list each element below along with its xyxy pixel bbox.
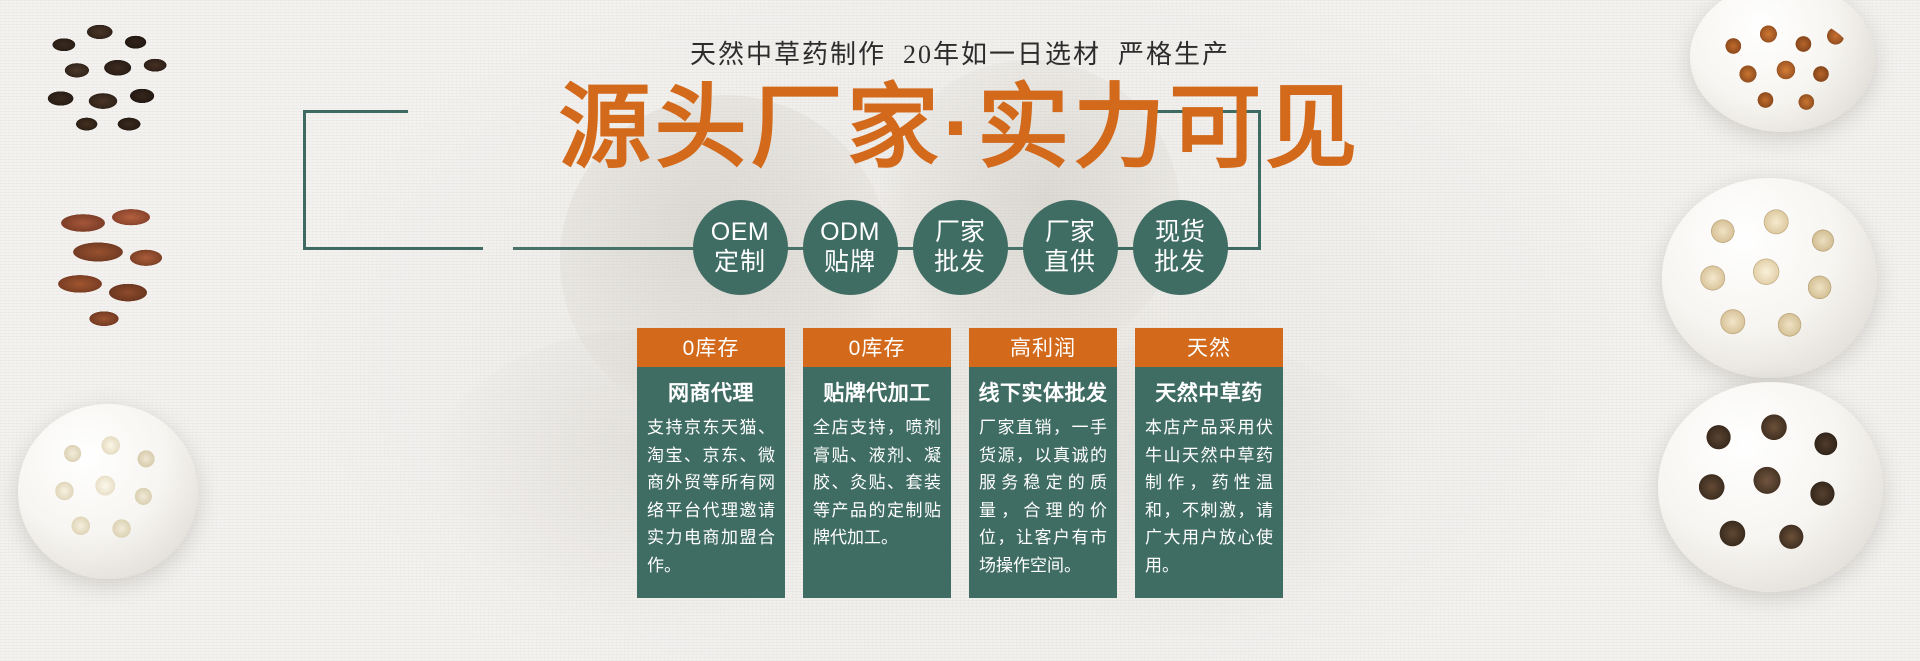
service-badge-stock-wholesale[interactable]: 现货 批发 <box>1133 200 1228 295</box>
service-badge-line2: 贴牌 <box>824 248 876 278</box>
service-badge-line2: 批发 <box>1154 248 1206 278</box>
service-badge-line1: ODM <box>820 218 880 248</box>
service-badge-line2: 直供 <box>1044 248 1096 278</box>
feature-card-header: 高利润 <box>969 328 1117 367</box>
feature-card-online-agent[interactable]: 0库存 网商代理 支持京东天猫、淘宝、京东、微商外贸等所有网络平台代理邀请实力电… <box>637 328 785 598</box>
feature-card-body: 全店支持，喷剂膏贴、液剂、凝胶、灸贴、套装等产品的定制贴牌代加工。 <box>803 414 951 598</box>
banner-tagline: 天然中草药制作 20年如一日选材 严格生产 <box>0 34 1920 71</box>
feature-card-body: 本店产品采用伏牛山天然中草药制作，药性温和，不刺激，请广大用户放心使用。 <box>1135 414 1283 598</box>
feature-card-natural-herbs[interactable]: 天然 天然中草药 本店产品采用伏牛山天然中草药制作，药性温和，不刺激，请广大用户… <box>1135 328 1283 598</box>
feature-card-subtitle: 线下实体批发 <box>969 367 1117 414</box>
service-badge-line1: 厂家 <box>935 218 985 248</box>
feature-card-body: 厂家直销，一手货源，以真诚的服务稳定的质量，合理的价位，让客户有市场操作空间。 <box>969 414 1117 598</box>
service-badge-line2: 批发 <box>934 248 986 278</box>
banner-headline: 源头厂家·实力可见 <box>0 82 1920 174</box>
feature-card-header: 天然 <box>1135 328 1283 367</box>
feature-card-subtitle: 贴牌代加工 <box>803 367 951 414</box>
service-badge-line1: 现货 <box>1155 218 1205 248</box>
feature-card-oem-processing[interactable]: 0库存 贴牌代加工 全店支持，喷剂膏贴、液剂、凝胶、灸贴、套装等产品的定制贴牌代… <box>803 328 951 598</box>
service-badge-oem[interactable]: OEM 定制 <box>693 200 788 295</box>
feature-card-subtitle: 天然中草药 <box>1135 367 1283 414</box>
service-badge-list: OEM 定制 ODM 贴牌 厂家 批发 厂家 直供 现货 批发 <box>0 200 1920 310</box>
service-badge-line1: 厂家 <box>1045 218 1095 248</box>
service-badge-line1: OEM <box>711 218 769 248</box>
service-badge-odm[interactable]: ODM 贴牌 <box>803 200 898 295</box>
service-badge-factory-direct[interactable]: 厂家 直供 <box>1023 200 1118 295</box>
promo-banner: 天然中草药制作 20年如一日选材 严格生产 源头厂家·实力可见 OEM 定制 O… <box>0 0 1920 661</box>
feature-card-offline-wholesale[interactable]: 高利润 线下实体批发 厂家直销，一手货源，以真诚的服务稳定的质量，合理的价位，让… <box>969 328 1117 598</box>
service-badge-factory-wholesale[interactable]: 厂家 批发 <box>913 200 1008 295</box>
feature-card-body: 支持京东天猫、淘宝、京东、微商外贸等所有网络平台代理邀请实力电商加盟合作。 <box>637 414 785 598</box>
feature-card-header: 0库存 <box>637 328 785 367</box>
feature-card-list: 0库存 网商代理 支持京东天猫、淘宝、京东、微商外贸等所有网络平台代理邀请实力电… <box>0 328 1920 598</box>
feature-card-header: 0库存 <box>803 328 951 367</box>
service-badge-line2: 定制 <box>714 248 766 278</box>
feature-card-subtitle: 网商代理 <box>637 367 785 414</box>
